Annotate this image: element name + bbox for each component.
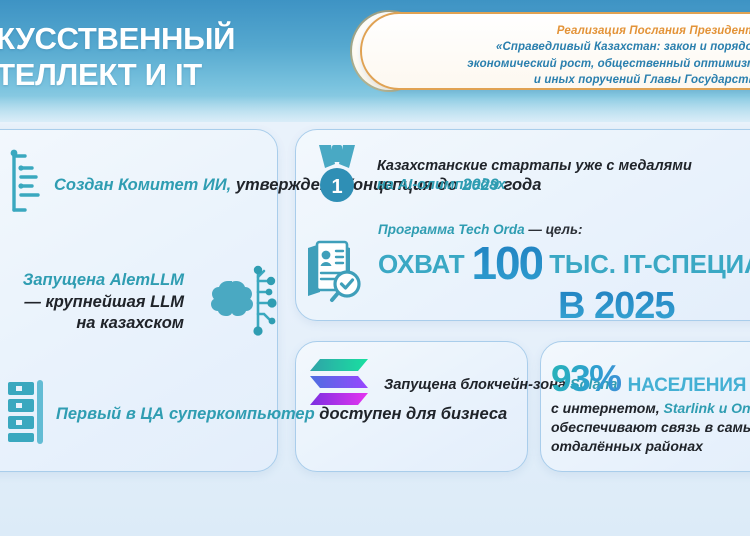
circuit-chip-icon — [8, 146, 42, 225]
medal-icon: 1 — [309, 142, 365, 209]
item-startup-medals-text: Казахстанские стартапы уже с медалями на… — [377, 157, 750, 195]
banner-line-1: Реализация Послания Президента — [392, 23, 750, 39]
presidential-message-banner: Реализация Послания Президента «Справедл… — [360, 12, 750, 90]
internet-headline: 93% НАСЕЛЕНИЯ — [551, 358, 750, 400]
techorda-subtitle: Программа Tech Orda — цель: — [378, 222, 582, 237]
alemllm-line-2: — крупнейшая LLM — [23, 292, 184, 313]
alemllm-line-3: на казахском — [23, 313, 184, 334]
techorda-headline-line1: ОХВАТ 100 ТЫС. IT-СПЕЦИАЛИСТОВ — [378, 249, 750, 279]
techorda-target-number: 100 — [471, 237, 542, 289]
item-startup-medals: 1 Казахстанские стартапы уже с медалями … — [309, 142, 750, 209]
super-line-2: суперкомпьютер — [169, 405, 315, 423]
page-title-line1: ИСКУССТВЕННЫЙ — [0, 21, 235, 57]
banner-line-4: и иных поручений Главы Государства — [392, 72, 750, 88]
banner-line-2: «Справедливый Казахстан: закон и порядок… — [392, 39, 750, 55]
item-internet-coverage: 93% НАСЕЛЕНИЯ с интернетом, Starlink и O… — [551, 358, 750, 456]
internet-line-3: обеспечивают связь в самых — [551, 419, 750, 435]
internet-percent: 93% — [551, 358, 621, 400]
alemllm-line-1: Запущена AlemLLM — [23, 270, 184, 291]
internet-line-4: отдалённых районах — [551, 438, 703, 454]
brain-circuit-icon — [196, 259, 278, 346]
techorda-headline-line2: В 2025 — [378, 285, 675, 327]
medals-line-1: Казахстанские стартапы уже с медалями — [377, 158, 692, 174]
internet-line-2: с интернетом, Starlink и OneWeb — [551, 400, 750, 416]
infographic-canvas: ИСКУССТВЕННЫЙ ИНТЕЛЛЕКТ И IT Реализация … — [0, 0, 750, 536]
document-check-icon — [304, 236, 366, 311]
techorda-program-name: Программа Tech Orda — [378, 222, 525, 237]
super-line-1: Первый в ЦА — [56, 405, 164, 423]
server-rack-icon — [8, 378, 44, 451]
banner-line-3: экономический рост, общественный оптимиз… — [392, 56, 750, 72]
solana-logo-icon — [308, 355, 372, 416]
item-internet-coverage-text: 93% НАСЕЛЕНИЯ с интернетом, Starlink и O… — [551, 358, 750, 456]
page-title: ИСКУССТВЕННЫЙ ИНТЕЛЛЕКТ И IT — [0, 21, 235, 93]
header-banner-area: ИСКУССТВЕННЫЙ ИНТЕЛЛЕКТ И IT Реализация … — [0, 0, 750, 122]
item-alemllm: Запущена AlemLLM — крупнейшая LLM на каз… — [0, 259, 278, 346]
medal-number: 1 — [331, 176, 342, 198]
committee-line-1: Создан Комитет ИИ, — [54, 176, 231, 194]
solana-line-1: Запущена — [384, 377, 456, 393]
item-tech-orda: Программа Tech Orda — цель: ОХВАТ 100 ТЫ… — [304, 221, 750, 325]
internet-providers: Starlink и OneWeb — [663, 400, 750, 416]
item-tech-orda-text: Программа Tech Orda — цель: ОХВАТ 100 ТЫ… — [378, 221, 750, 325]
item-alemllm-text: Запущена AlemLLM — крупнейшая LLM на каз… — [23, 270, 184, 334]
internet-population-label: НАСЕЛЕНИЯ — [628, 375, 747, 397]
medals-line-2: на AI-олимпиадах — [377, 177, 506, 193]
page-title-line2: ИНТЕЛЛЕКТ И IT — [0, 57, 235, 93]
